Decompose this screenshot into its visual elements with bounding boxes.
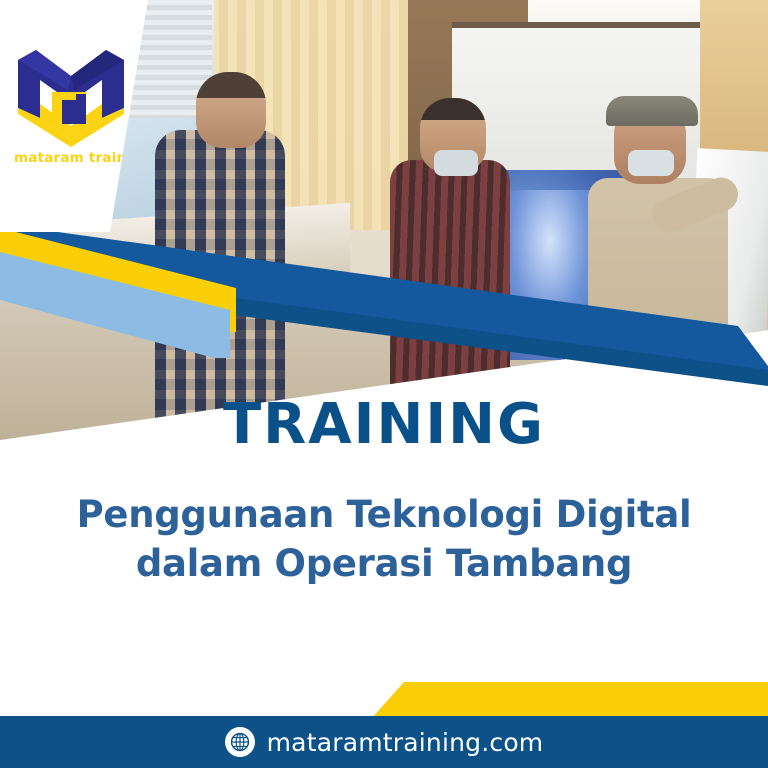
footer-bar: mataramtraining.com — [0, 716, 768, 768]
yellow-accent-band — [0, 682, 768, 720]
footer-website-url: mataramtraining.com — [267, 728, 544, 757]
logo-wordmark: mataram training — [14, 150, 134, 166]
page-title: TRAINING — [0, 392, 768, 457]
globe-icon — [225, 727, 255, 757]
mataram-m-logo-icon — [16, 46, 126, 150]
training-poster: mataram training TRAINING Penggunaan Tek… — [0, 0, 768, 768]
page-subtitle: Penggunaan Teknologi Digital dalam Opera… — [24, 490, 744, 588]
